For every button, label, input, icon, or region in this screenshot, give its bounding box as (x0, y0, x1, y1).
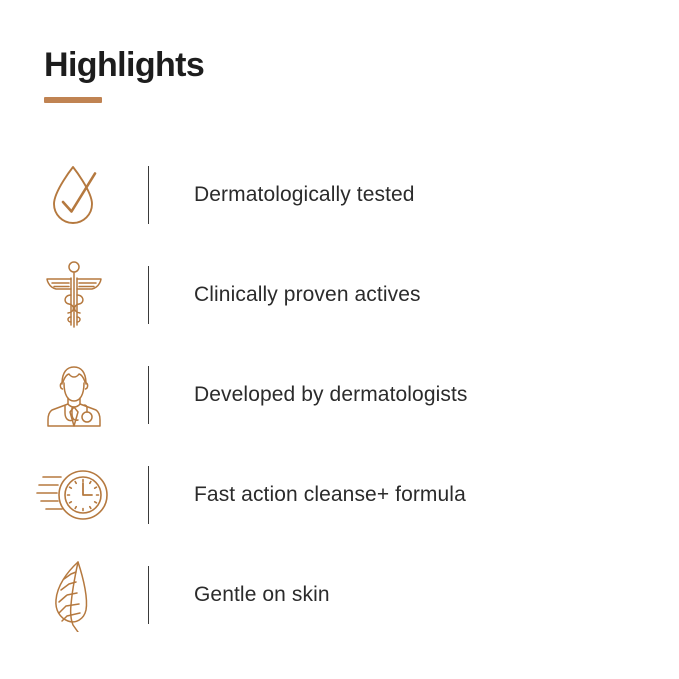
feather-icon (49, 558, 99, 632)
label-cell: Developed by dermatologists (149, 382, 468, 407)
list-item-label: Developed by dermatologists (194, 382, 468, 407)
list-item-label: Gentle on skin (194, 582, 330, 607)
droplet-check-icon (43, 160, 105, 230)
list-item-label: Fast action cleanse+ formula (194, 482, 466, 507)
list-item: Clinically proven actives (0, 245, 679, 345)
list-item: Developed by dermatologists (0, 345, 679, 445)
icon-cell (0, 362, 148, 428)
page-title: Highlights (44, 48, 204, 82)
icon-cell (0, 259, 148, 331)
list-item-label: Dermatologically tested (194, 182, 415, 207)
list-item: Dermatologically tested (0, 145, 679, 245)
doctor-stethoscope-icon (42, 362, 106, 428)
highlight-list: Dermatologically tested (0, 145, 679, 645)
icon-cell (0, 463, 148, 527)
header: Highlights (44, 48, 204, 103)
label-cell: Gentle on skin (149, 582, 330, 607)
highlights-page: Highlights Dermatologically tested (0, 0, 679, 679)
label-cell: Clinically proven actives (149, 282, 421, 307)
label-cell: Fast action cleanse+ formula (149, 482, 466, 507)
list-item-label: Clinically proven actives (194, 282, 421, 307)
icon-cell (0, 160, 148, 230)
fast-clock-icon (35, 463, 113, 527)
list-item: Fast action cleanse+ formula (0, 445, 679, 545)
caduceus-icon (42, 259, 106, 331)
list-item: Gentle on skin (0, 545, 679, 645)
icon-cell (0, 558, 148, 632)
title-accent-bar (44, 97, 102, 103)
label-cell: Dermatologically tested (149, 182, 415, 207)
